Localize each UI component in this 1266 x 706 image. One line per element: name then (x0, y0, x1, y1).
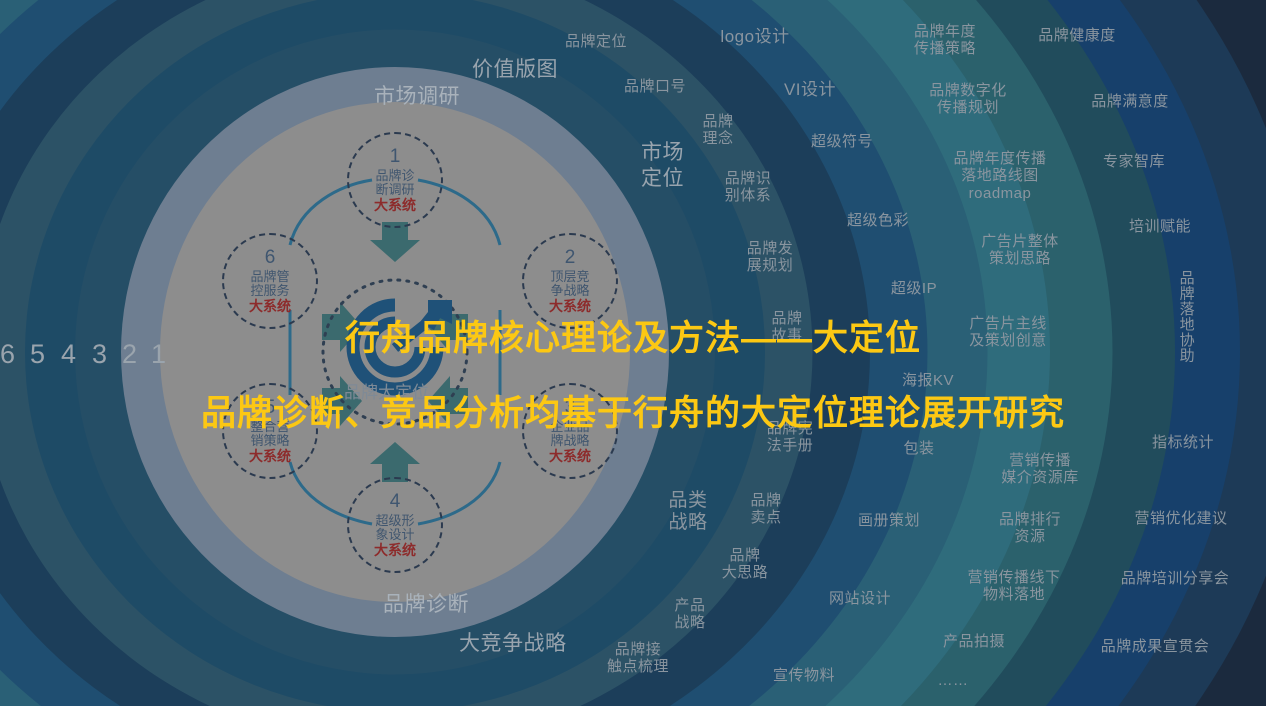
keyword-category-strategy: 品类战略 (668, 490, 707, 534)
step-node-3-system: 大系统 (549, 449, 591, 464)
slide-title-line1: 行舟品牌核心理论及方法——大定位 (0, 310, 1266, 361)
step-node-2-name-line1: 顶层竞 (550, 270, 589, 284)
keyword-super-ip: 超级IP (891, 280, 937, 297)
step-node-6-name-line2: 控服务 (250, 284, 289, 298)
keyword-ellipsis-dots: …… (938, 672, 969, 689)
step-node-4-name-line1: 超级形 (375, 514, 414, 528)
keyword-brand-concept: 品牌理念 (702, 113, 733, 148)
keyword-brand-dev-plan: 品牌发展规划 (747, 240, 794, 275)
step-node-4-number: 4 (390, 492, 401, 513)
keyword-offline-materials: 营销传播线下物料落地 (967, 569, 1060, 604)
step-node-5-system: 大系统 (249, 449, 291, 464)
keyword-brochure-planning: 画册策划 (858, 512, 920, 529)
keyword-brand-big-idea: 品牌大思路 (722, 547, 769, 582)
keyword-expert-think-tank: 专家智库 (1103, 153, 1165, 170)
keyword-marketing-media-lib: 营销传播媒介资源库 (1001, 452, 1079, 487)
keyword-vi-design: VI设计 (784, 80, 836, 100)
keyword-product-strategy: 产品战略 (674, 597, 705, 632)
keyword-brand-annual-comm: 品牌年度传播策略 (914, 23, 976, 58)
keyword-brand-ranking-res: 品牌排行资源 (999, 511, 1061, 546)
band-label-market-research: 市场调研 (374, 85, 460, 109)
slide-canvas: 6 5 4 3 2 1 价值版图 市场调研 品牌诊断 大竞争战略 市场 定位 品… (0, 0, 1266, 706)
step-node-4[interactable]: 4 超级形 象设计 大系统 (347, 477, 443, 573)
step-node-1-name-line2: 断调研 (375, 183, 414, 197)
keyword-brand-identity-system: 品牌识别体系 (725, 170, 772, 205)
keyword-brand-training-share: 品牌培训分享会 (1121, 570, 1230, 587)
band-label-market-positioning-line1: 市场 (641, 140, 684, 166)
keyword-super-symbol: 超级符号 (811, 133, 873, 150)
band-label-value-map: 价值版图 (472, 58, 558, 82)
keyword-brand-selling-point: 品牌卖点 (750, 492, 781, 527)
band-label-big-competition-strategy: 大竞争战略 (459, 632, 567, 656)
keyword-ad-film-overall: 广告片整体策划思路 (981, 233, 1059, 268)
step-node-1[interactable]: 1 品牌诊 断调研 大系统 (347, 132, 443, 228)
keyword-website-design: 网站设计 (829, 590, 891, 607)
keyword-marketing-optimization: 营销优化建议 (1134, 510, 1227, 527)
keyword-training-empowerment: 培训赋能 (1129, 218, 1191, 235)
step-node-1-number: 1 (390, 147, 401, 168)
band-label-market-positioning: 市场 定位 (641, 140, 684, 193)
band-label-market-positioning-line2: 定位 (641, 166, 684, 192)
step-node-1-name-line1: 品牌诊 (375, 169, 414, 183)
step-node-4-system: 大系统 (374, 543, 416, 558)
keyword-brand-digital-comm: 品牌数字化传播规划 (929, 82, 1007, 117)
keyword-brand-health: 品牌健康度 (1038, 27, 1116, 44)
keyword-brand-result-meeting: 品牌成果宣贯会 (1101, 638, 1210, 655)
band-label-brand-diagnosis: 品牌诊断 (383, 593, 469, 617)
keyword-brand-touchpoint: 品牌接触点梳理 (607, 641, 669, 676)
keyword-packaging: 包装 (903, 440, 934, 457)
keyword-index-statistics: 指标统计 (1152, 434, 1214, 451)
keyword-product-shooting: 产品拍摄 (943, 633, 1005, 650)
keyword-promo-materials: 宣传物料 (773, 667, 835, 684)
step-node-4-name-line2: 象设计 (375, 528, 414, 542)
slide-title-line2: 品牌诊断、竞品分析均基于行舟的大定位理论展开研究 (0, 385, 1266, 436)
keyword-super-color: 超级色彩 (847, 212, 909, 229)
keyword-brand-annual-roadmap: 品牌年度传播落地路线图roadmap (953, 150, 1046, 202)
step-node-2-number: 2 (565, 248, 576, 269)
keyword-brand-positioning: 品牌定位 (565, 33, 627, 50)
step-node-6-name-line1: 品牌管 (250, 270, 289, 284)
keyword-brand-satisfaction: 品牌满意度 (1091, 93, 1169, 110)
keyword-logo-design: logo设计 (720, 27, 789, 47)
keyword-brand-slogan: 品牌口号 (624, 78, 686, 95)
step-node-1-system: 大系统 (374, 198, 416, 213)
step-node-6-number: 6 (265, 248, 276, 269)
step-node-2-name-line2: 争战略 (550, 284, 589, 298)
